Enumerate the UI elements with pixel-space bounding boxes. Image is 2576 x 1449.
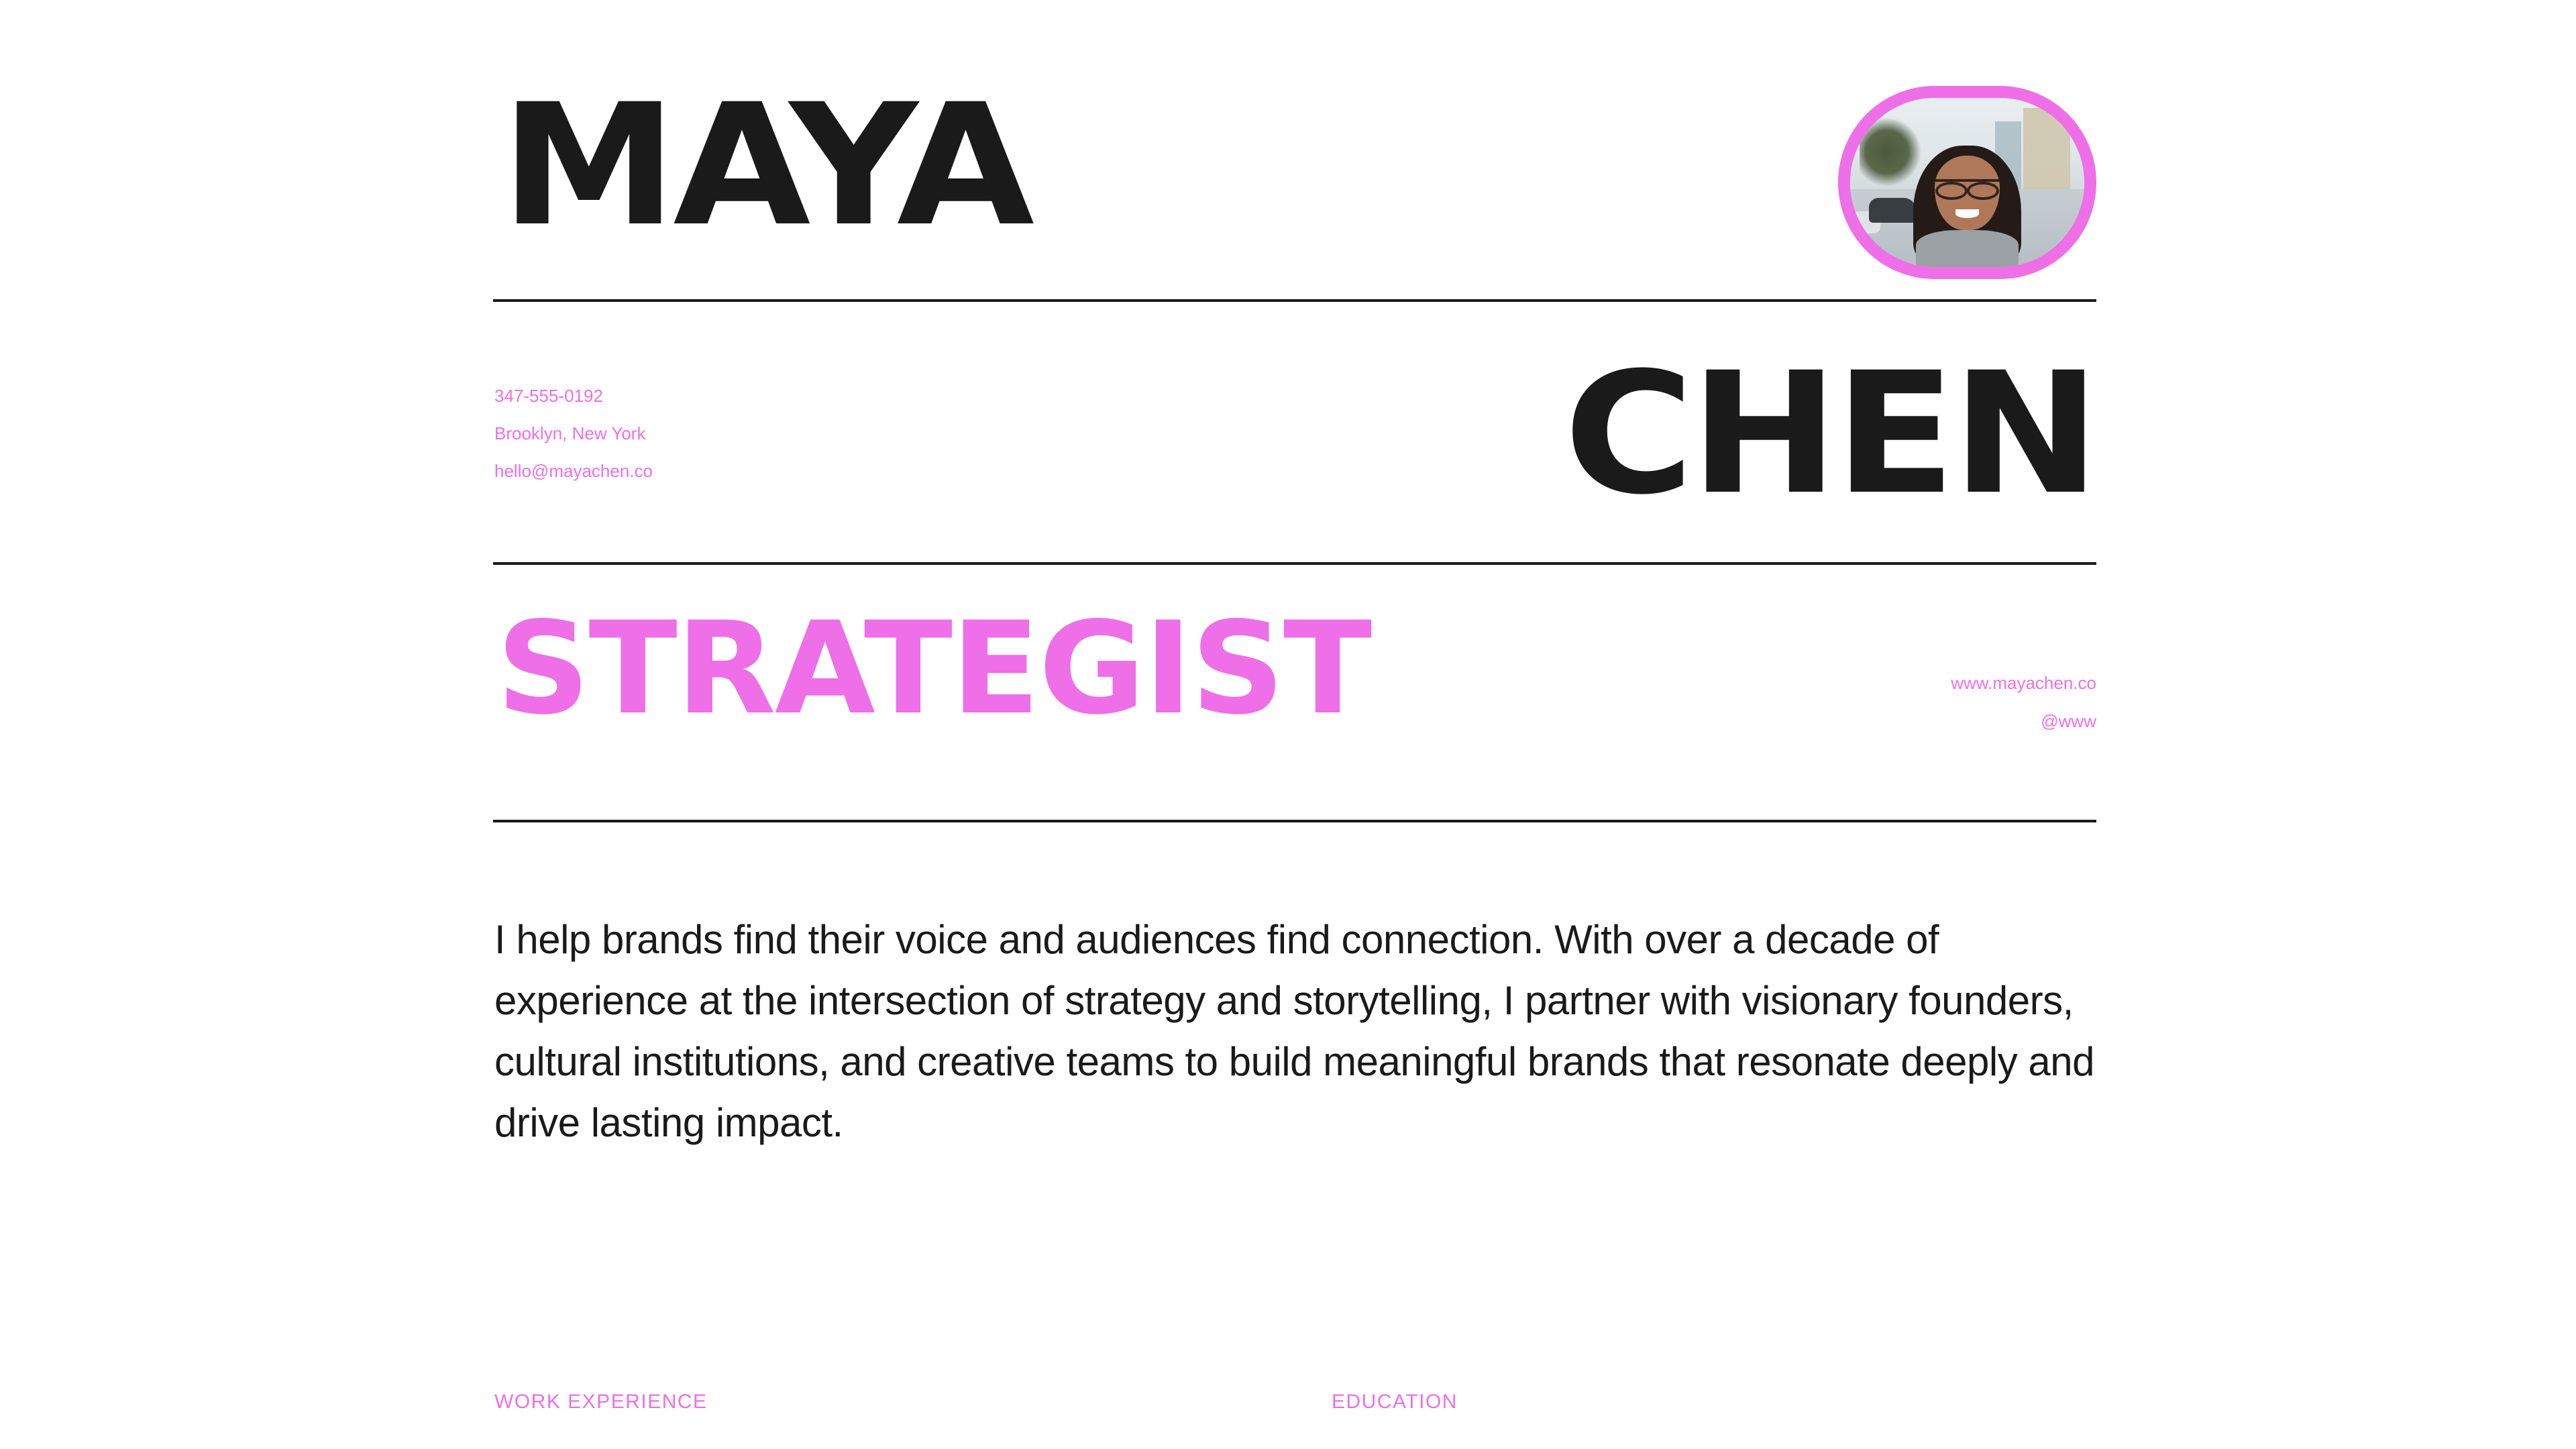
contact-block: 347-555-0192 Brooklyn, New York hello@ma… xyxy=(494,377,653,490)
role-title: STRATEGIST xyxy=(496,605,1371,733)
avatar xyxy=(1838,86,2096,279)
contact-email[interactable]: hello@mayachen.co xyxy=(494,452,653,490)
links-block: www.mayachen.co @www xyxy=(1951,664,2096,741)
section-heading-education: EDUCATION xyxy=(1332,1391,1458,1413)
contact-location: Brooklyn, New York xyxy=(494,415,653,452)
photo-smile xyxy=(1955,209,1979,218)
divider-top xyxy=(493,299,2096,302)
photo-torso xyxy=(1916,230,2019,267)
link-website[interactable]: www.mayachen.co xyxy=(1951,664,2096,702)
photo-building xyxy=(2023,108,2070,196)
divider-middle xyxy=(493,562,2096,565)
link-handle[interactable]: @www xyxy=(1951,702,2096,741)
contact-phone[interactable]: 347-555-0192 xyxy=(494,377,653,415)
page-title-first-name: MAYA xyxy=(500,82,1030,250)
photo-tree xyxy=(1860,118,1921,186)
summary-paragraph: I help brands find their voice and audie… xyxy=(494,909,2104,1153)
photo-car xyxy=(1869,198,1916,223)
resume-page: MAYA 347-555-0192 Brooklyn, New York hel… xyxy=(0,0,2576,1449)
glasses-icon xyxy=(1935,179,1998,195)
avatar-photo xyxy=(1850,98,2084,267)
divider-bottom xyxy=(493,820,2096,822)
section-heading-work-experience: WORK EXPERIENCE xyxy=(494,1391,708,1413)
page-title-last-name: CHEN xyxy=(1564,350,2096,518)
